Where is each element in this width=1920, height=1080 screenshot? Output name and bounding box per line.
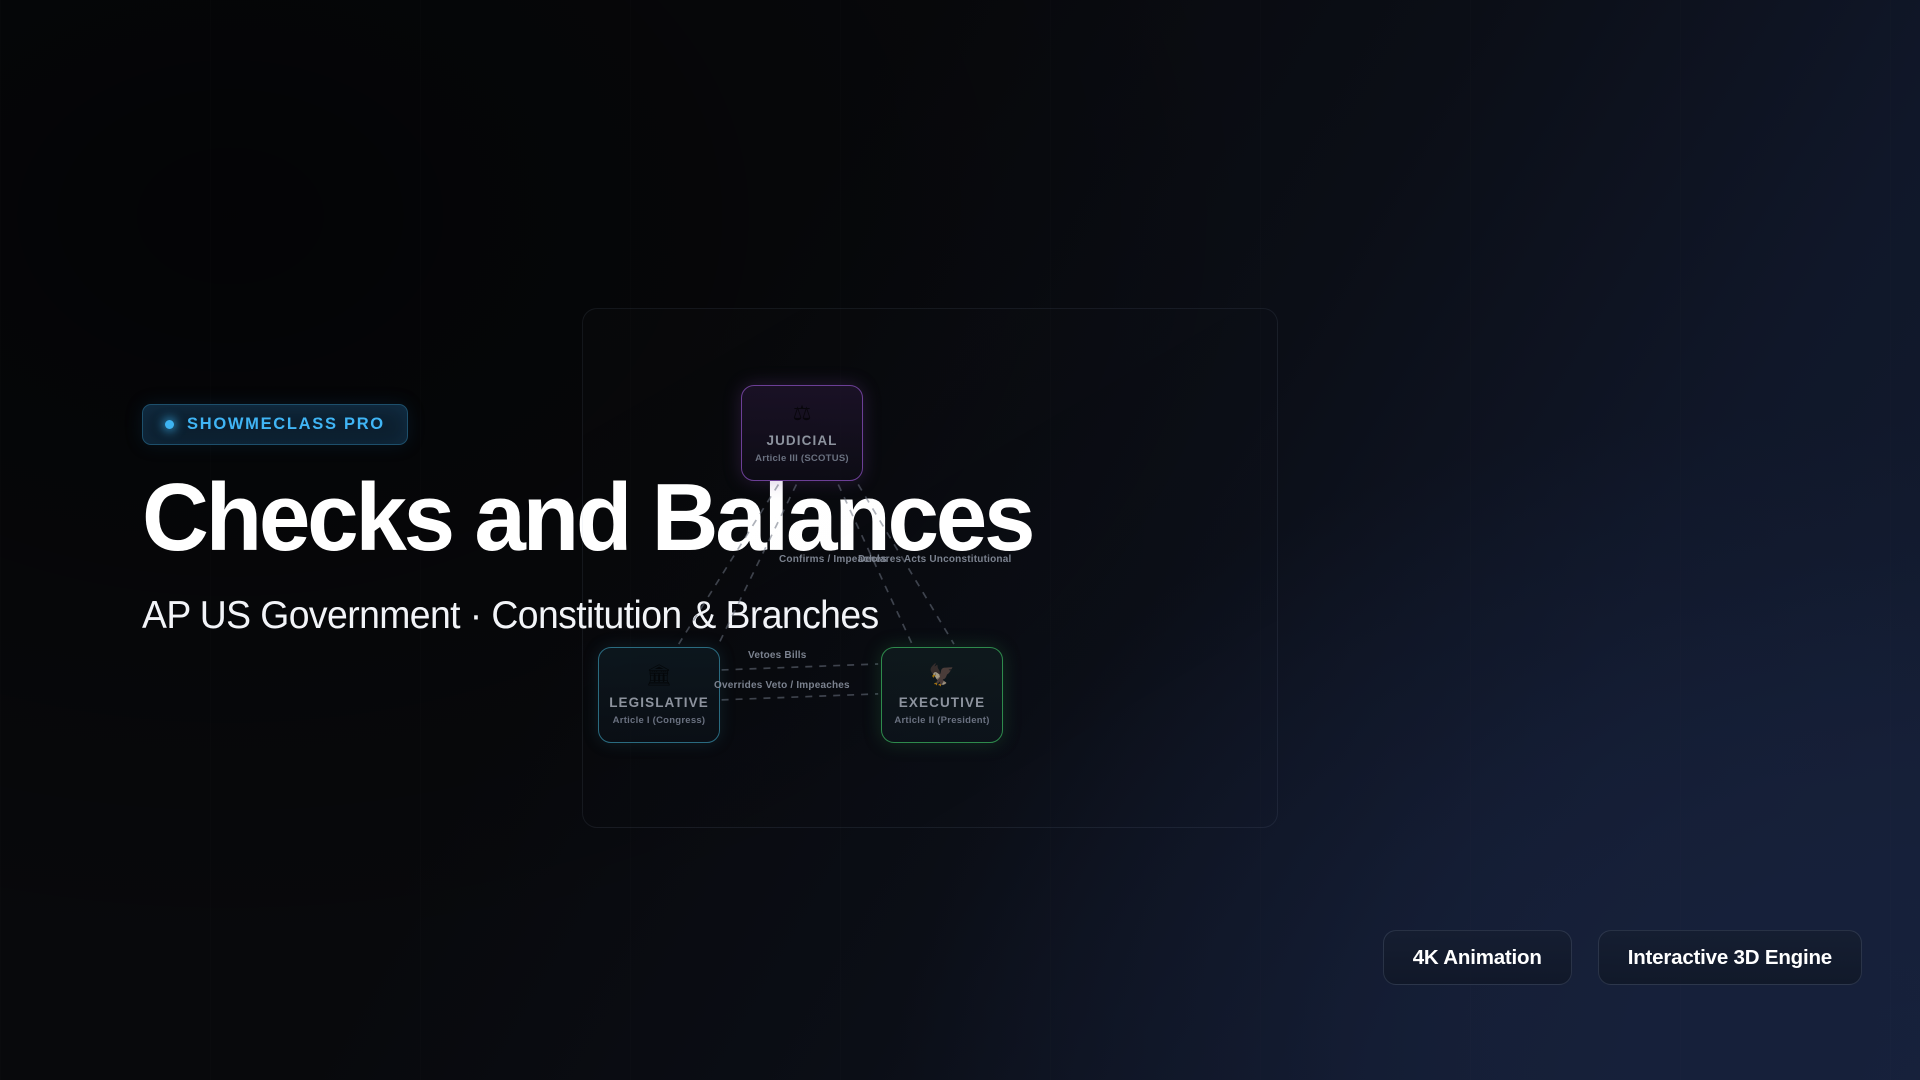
diagram-node-executive[interactable]: 🦅 EXECUTIVE Article II (President) [881,647,1003,743]
node-subtitle-executive: Article II (President) [894,715,989,726]
edge-legislative-executive [722,694,879,700]
diagram-panel: ⚖ JUDICIAL Article III (SCOTUS) 🏛 LEGISL… [582,308,1278,828]
edge-executive-legislative [722,664,879,670]
scales-of-justice-icon: ⚖ [793,403,812,424]
edge-label-declares-unconstitutional: Declares Acts Unconstitutional [858,554,1011,565]
pill-interactive-3d-engine[interactable]: Interactive 3D Engine [1598,930,1862,985]
edge-label-vetoes-bills: Vetoes Bills [748,650,807,661]
diagram-stage: ⚖ JUDICIAL Article III (SCOTUS) 🏛 LEGISL… [583,309,1277,827]
pro-badge-label: SHOWMECLASS PRO [187,415,385,434]
diagram-node-legislative[interactable]: 🏛 LEGISLATIVE Article I (Congress) [598,647,720,743]
node-title-legislative: LEGISLATIVE [609,695,709,710]
status-dot-icon [165,420,174,429]
pill-4k-animation[interactable]: 4K Animation [1383,930,1572,985]
capitol-building-icon: 🏛 [646,665,673,686]
edge-label-overrides-veto: Overrides Veto / Impeaches [714,680,850,691]
feature-pill-group: 4K Animation Interactive 3D Engine [1383,930,1862,985]
edge-judicial-legislative-a [679,484,779,644]
node-subtitle-judicial: Article III (SCOTUS) [755,453,849,464]
node-title-executive: EXECUTIVE [899,695,985,710]
diagram-node-judicial[interactable]: ⚖ JUDICIAL Article III (SCOTUS) [741,385,863,481]
pro-badge[interactable]: SHOWMECLASS PRO [142,404,408,445]
node-title-judicial: JUDICIAL [766,433,837,448]
eagle-icon: 🦅 [929,665,955,686]
diagram-connections [583,309,1277,828]
node-subtitle-legislative: Article I (Congress) [613,715,706,726]
